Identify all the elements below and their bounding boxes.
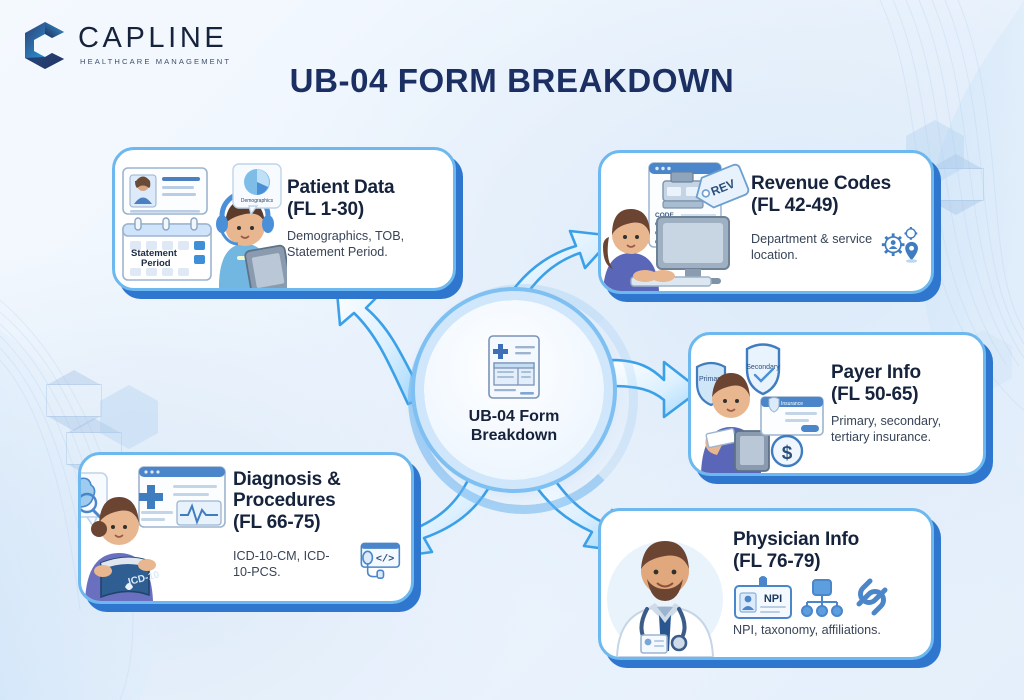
hub-label-line2: Breakdown: [471, 427, 557, 444]
diagnosis-title: Diagnosis & Procedures (FL 66-75): [233, 469, 401, 534]
shield-secondary-icon: Secondary: [746, 345, 780, 395]
pie-chart-label: Demographics: [241, 198, 274, 204]
diagnosis-illustration: ICD-10: [81, 455, 233, 601]
gear-location-icons: [879, 217, 922, 271]
hub-label: UB-04 Form Breakdown: [469, 408, 560, 446]
physician-info-text: Physician Info (FL 76-79) NPI: [733, 529, 931, 639]
physician-info-title: Physician Info (FL 76-79): [733, 529, 921, 572]
physician-icon-row: NPI: [733, 576, 913, 620]
patient-data-fl-range: (FL 1-30): [287, 199, 443, 221]
link-chain-icon: [859, 581, 885, 613]
page-title: UB-04 FORM BREAKDOWN: [0, 62, 1024, 100]
hexagon-outline-decor: [928, 168, 984, 201]
medical-form-document-icon: [485, 334, 543, 400]
patient-data-text: Patient Data (FL 1-30) Demographics, TOB…: [287, 177, 453, 260]
code-device-icons: </>: [355, 533, 401, 587]
calendar-label-period: Period: [141, 258, 171, 269]
medical-record-icon: [139, 467, 225, 527]
payer-info-title: Payer Info (FL 50-65): [831, 362, 973, 405]
gear-small-icon: [904, 227, 917, 240]
revenue-codes-illustration: CODE CODE CODE CODE REV: [601, 153, 751, 291]
diagnosis-title-line2: Procedures: [233, 490, 401, 512]
payer-info-description: Primary, secondary, tertiary insurance.: [831, 413, 973, 446]
location-pin-icon: [905, 242, 918, 263]
patient-data-description: Demographics, TOB, Statement Period.: [287, 228, 443, 261]
card-revenue-codes[interactable]: CODE CODE CODE CODE REV: [598, 150, 934, 294]
card-patient-data[interactable]: Statement Period: [112, 147, 456, 291]
revenue-codes-title: Revenue Codes (FL 42-49): [751, 173, 921, 216]
hexagon-outline-decor: [46, 384, 102, 417]
payer-info-fl-range: (FL 50-65): [831, 384, 973, 406]
id-card-icon: [123, 168, 207, 214]
patient-data-title: Patient Data (FL 1-30): [287, 177, 443, 220]
code-symbol: </>: [376, 554, 394, 566]
arrow-to-patient-data: [336, 281, 424, 404]
payer-info-text: Payer Info (FL 50-65) Primary, secondary…: [831, 362, 983, 445]
payer-info-illustration: Primary Secondary: [691, 335, 831, 473]
shield-secondary-label: Secondary: [746, 364, 780, 371]
arrow-to-payer-info: [612, 360, 700, 417]
diagnosis-text: Diagnosis & Procedures (FL 66-75) ICD-10…: [233, 469, 411, 588]
diagnosis-fl-range: (FL 66-75): [233, 512, 401, 534]
revenue-codes-text: Revenue Codes (FL 42-49) Department & se…: [751, 173, 931, 270]
calendar-icon: Statement Period: [123, 218, 211, 280]
card-diagnosis-procedures[interactable]: ICD-10 Diagnosis & Procedures (FL 66-75)…: [78, 452, 414, 604]
dollar-symbol: $: [782, 443, 793, 464]
hub-label-line1: UB-04 Form: [469, 408, 560, 425]
insurance-card-icon: Insurance: [761, 397, 823, 435]
npi-label: NPI: [764, 593, 782, 605]
npi-badge-icon: NPI: [735, 576, 791, 618]
pie-chart-icon: Demographics: [233, 164, 281, 214]
physician-info-description: NPI, taxonomy, affiliations.: [733, 622, 921, 638]
diagnosis-description: ICD-10-CM, ICD-10-PCS.: [233, 548, 347, 581]
hexagon-filled-decor: [100, 385, 158, 449]
card-physician-info[interactable]: Physician Info (FL 76-79) NPI: [598, 508, 934, 660]
infographic-canvas: CAPLINE HEALTHCARE MANAGEMENT UB-04 FORM…: [0, 0, 1024, 700]
org-chart-icon: [802, 580, 842, 616]
insurance-card-header: Insurance: [781, 401, 803, 407]
card-payer-info[interactable]: Primary Secondary: [688, 332, 986, 476]
patient-data-illustration: Statement Period: [115, 150, 287, 288]
revenue-codes-fl-range: (FL 42-49): [751, 195, 921, 217]
revenue-codes-description: Department & service location.: [751, 231, 873, 264]
physician-info-fl-range: (FL 76-79): [733, 551, 921, 573]
physician-info-illustration: [601, 511, 733, 657]
dollar-coin-icon: $: [772, 436, 802, 466]
center-hub: UB-04 Form Breakdown: [424, 300, 604, 480]
brand-name: CAPLINE: [78, 24, 231, 53]
